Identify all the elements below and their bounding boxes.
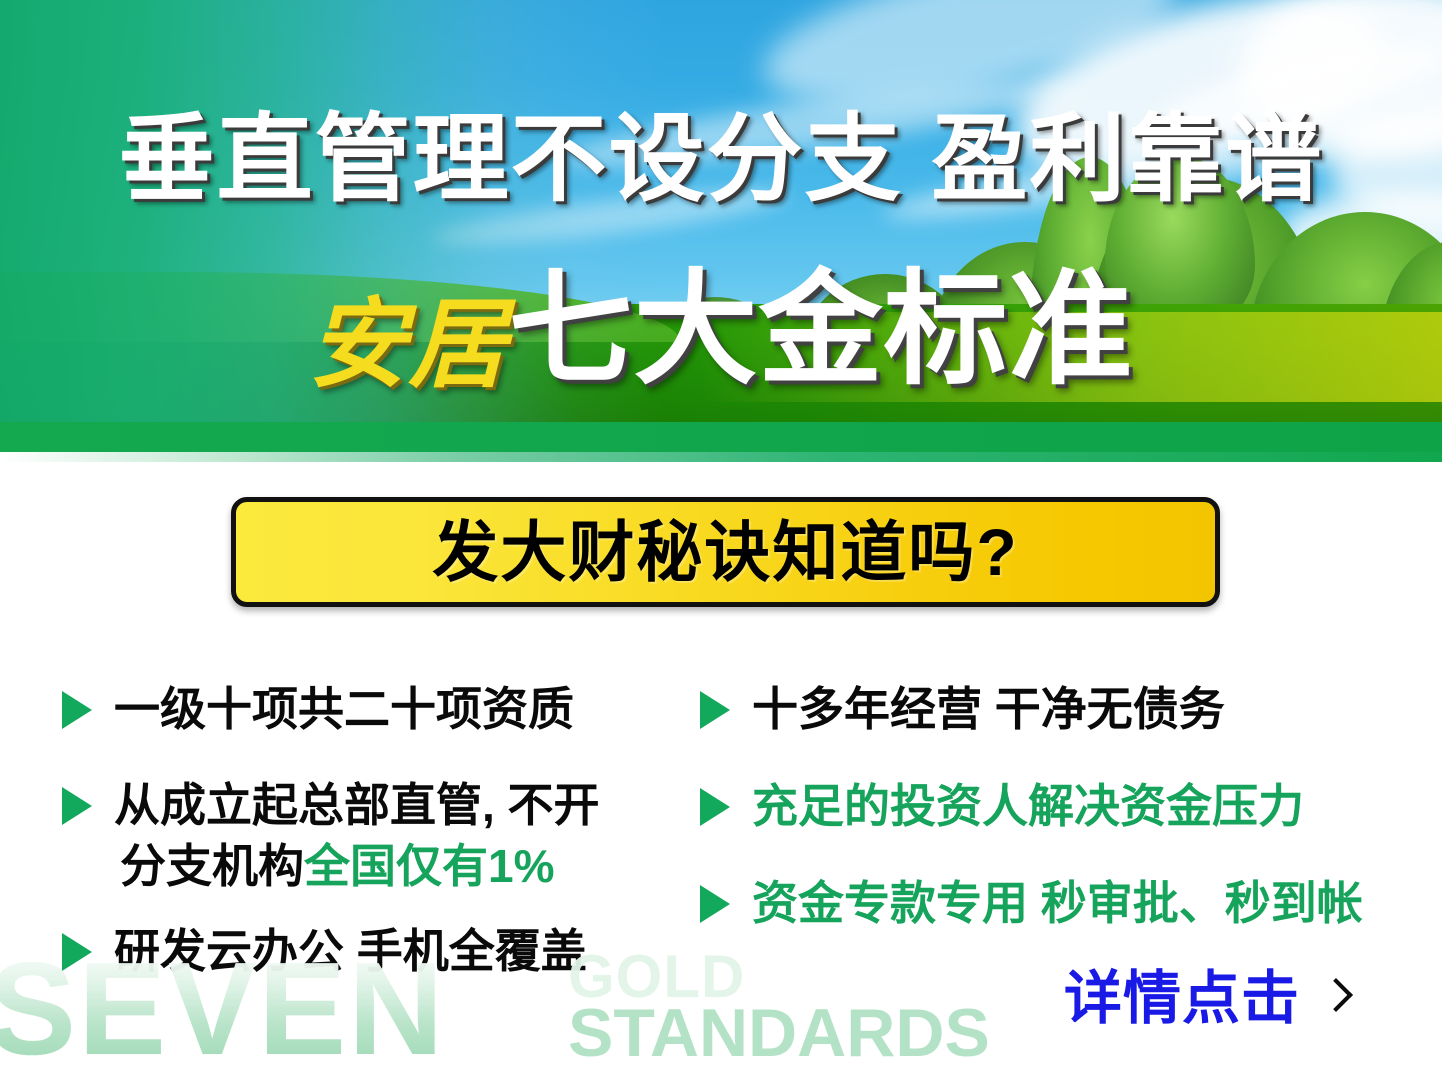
feature-text: 研发云办公 手机全覆盖 xyxy=(114,921,587,982)
feature-line-2-highlight: 全国仅有1% xyxy=(304,840,554,892)
highlight-question-banner[interactable]: 发大财秘诀知道吗? xyxy=(231,497,1220,607)
green-triangle-icon xyxy=(700,691,730,729)
feature-text: 充足的投资人解决资金压力 xyxy=(752,776,1304,837)
watermark-standards: STANDARDS xyxy=(568,999,990,1066)
green-triangle-icon xyxy=(62,787,92,825)
feature-item: 充足的投资人解决资金压力 xyxy=(700,776,1304,837)
green-triangle-icon xyxy=(700,885,730,923)
feature-line-2: 分支机构 xyxy=(114,840,304,892)
feature-line-1: 研发云办公 手机全覆盖 xyxy=(114,925,587,977)
feature-line-1: 一级十项共二十项资质 xyxy=(114,683,574,735)
details-cta-label: 详情点击 xyxy=(1064,970,1300,1028)
hero-divider-strip xyxy=(0,452,1442,462)
features-section: 一级十项共二十项资质 从成立起总部直管, 不开 分支机构全国仅有1% 研发云办公… xyxy=(0,663,1442,983)
feature-text: 资金专款专用 秒审批、秒到帐 xyxy=(752,873,1363,934)
feature-item: 一级十项共二十项资质 xyxy=(62,679,574,740)
green-triangle-icon xyxy=(62,691,92,729)
hero-headline-standards: 七大金标准 xyxy=(509,261,1134,399)
feature-item: 十多年经营 干净无债务 xyxy=(700,679,1225,740)
feature-item: 资金专款专用 秒审批、秒到帐 xyxy=(700,873,1363,934)
highlight-question-text: 发大财秘诀知道吗? xyxy=(432,519,1018,585)
hero-headline-secondary: 安居七大金标准 xyxy=(0,268,1442,393)
feature-text: 一级十项共二十项资质 xyxy=(114,679,574,740)
hero-section: 垂直管理不设分支 盈利靠谱 安居七大金标准 xyxy=(0,0,1442,452)
feature-text: 十多年经营 干净无债务 xyxy=(752,679,1225,740)
hero-bottom-green-bar xyxy=(0,422,1442,452)
hero-headline-brand: 安居 xyxy=(308,289,508,399)
feature-item: 研发云办公 手机全覆盖 xyxy=(62,921,587,982)
feature-text: 从成立起总部直管, 不开 分支机构全国仅有1% xyxy=(114,775,600,896)
feature-line-1: 从成立起总部直管, 不开 xyxy=(114,779,600,831)
green-triangle-icon xyxy=(62,933,92,971)
green-triangle-icon xyxy=(700,788,730,826)
details-cta-link[interactable]: 详情点击 xyxy=(1064,970,1348,1028)
chevron-right-icon xyxy=(1322,977,1348,1021)
feature-item: 从成立起总部直管, 不开 分支机构全国仅有1% xyxy=(62,775,600,896)
advertisement-banner: 垂直管理不设分支 盈利靠谱 安居七大金标准 发大财秘诀知道吗? 一级十项共二十项… xyxy=(0,0,1442,1066)
hero-headline-primary: 垂直管理不设分支 盈利靠谱 xyxy=(0,112,1442,208)
